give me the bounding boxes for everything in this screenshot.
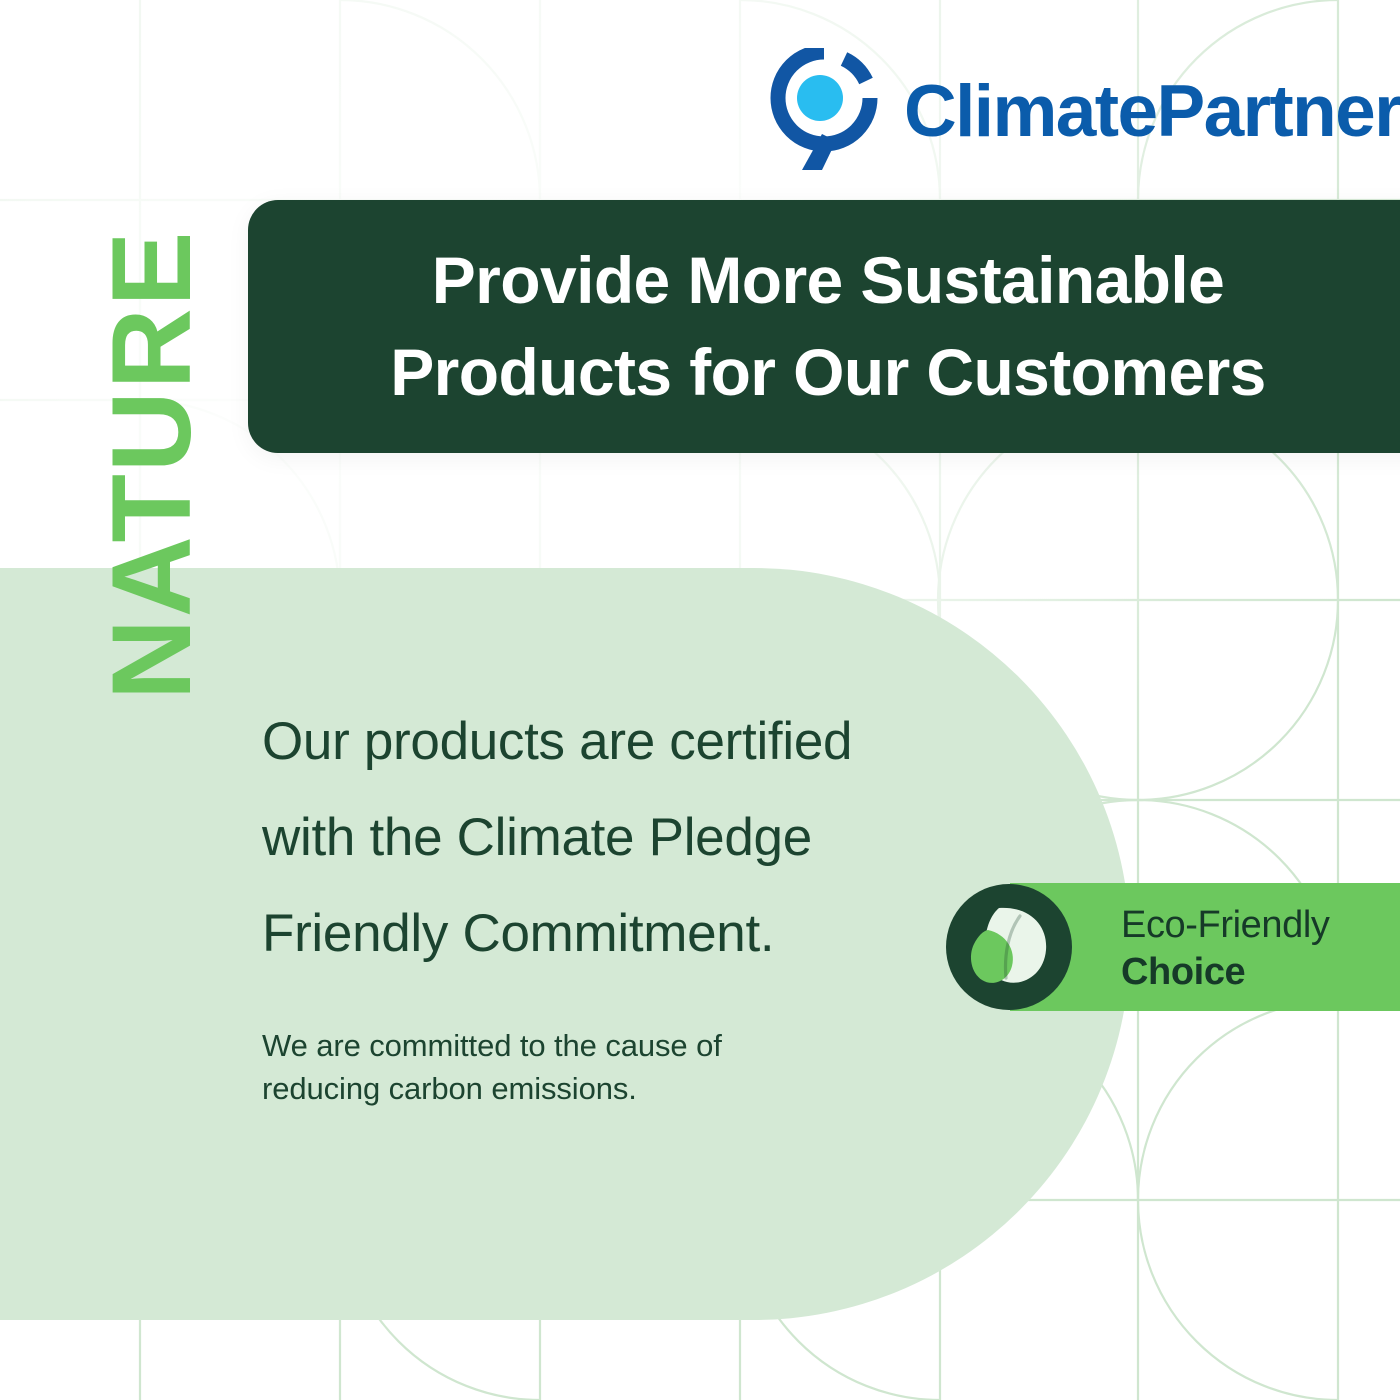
subtext-line-1: We are committed to the cause of [262,1024,902,1067]
body-line-3: Friendly Commitment. [262,886,1002,982]
eco-badge-text: Eco-Friendly Choice [1121,901,1330,995]
poster-canvas: ClimatePartner Provide More Sustainable … [0,0,1400,1400]
eco-badge-label-line-2: Choice [1121,949,1330,995]
body-line-1: Our products are certified [262,694,1002,790]
eco-badge-label-line-1: Eco-Friendly [1121,901,1330,949]
two-leaves-icon [944,882,1074,1012]
headline-line-1: Provide More Sustainable [248,235,1398,326]
nature-body-copy: Our products are certified with the Clim… [262,694,1002,982]
nature-vertical-label: NATURE [96,200,208,700]
headline-line-2: Products for Our Customers [248,327,1398,418]
climatepartner-circle-logo-icon [766,48,882,172]
brand-logo[interactable]: ClimatePartner [766,48,1400,172]
brand-wordmark: ClimatePartner [904,75,1400,148]
subtext-line-2: reducing carbon emissions. [262,1067,902,1110]
nature-subtext: We are committed to the cause of reducin… [262,1024,902,1110]
body-line-2: with the Climate Pledge [262,790,1002,886]
headline-banner: Provide More Sustainable Products for Ou… [248,200,1400,453]
